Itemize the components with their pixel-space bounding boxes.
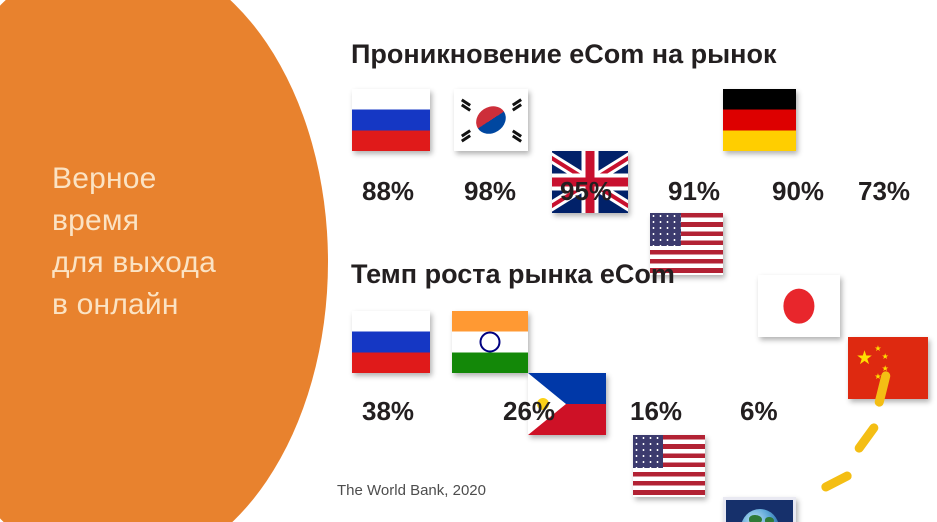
flag-russia-icon xyxy=(352,311,430,373)
percent-value: 91% xyxy=(668,176,720,207)
percent-value: 6% xyxy=(740,396,778,427)
percent-value: 88% xyxy=(362,176,414,207)
flag-world-globe-icon xyxy=(723,497,796,522)
flag-germany-icon xyxy=(723,89,796,151)
content-column: Проникновение eCom на рынок xyxy=(348,0,937,522)
percent-value: 98% xyxy=(464,176,516,207)
flag-row-penetration: ★ ★ ★ ★ ★ xyxy=(348,89,430,159)
flag-usa-icon xyxy=(633,435,705,497)
percent-value: 38% xyxy=(362,396,414,427)
flag-japan-icon xyxy=(758,275,840,337)
flag-row-growth xyxy=(348,311,426,381)
source-attribution: The World Bank, 2020 xyxy=(337,482,486,499)
flag-south-korea-icon xyxy=(454,89,528,151)
section-title-penetration: Проникновение eCom на рынок xyxy=(351,39,777,70)
callout-text: Верное время для выхода в онлайн xyxy=(52,158,302,326)
flag-india-icon xyxy=(452,311,528,373)
flag-russia-icon xyxy=(352,89,430,151)
percent-value: 90% xyxy=(772,176,824,207)
percent-value: 73% xyxy=(858,176,910,207)
percent-value: 16% xyxy=(630,396,682,427)
section-title-growth: Темп роста рынка eCom xyxy=(351,259,675,290)
slide-canvas: Верное время для выхода в онлайн Проникн… xyxy=(0,0,937,522)
percent-value: 26% xyxy=(503,396,555,427)
flag-china-icon: ★ ★ ★ ★ ★ xyxy=(848,337,928,399)
percent-value: 95% xyxy=(560,176,612,207)
